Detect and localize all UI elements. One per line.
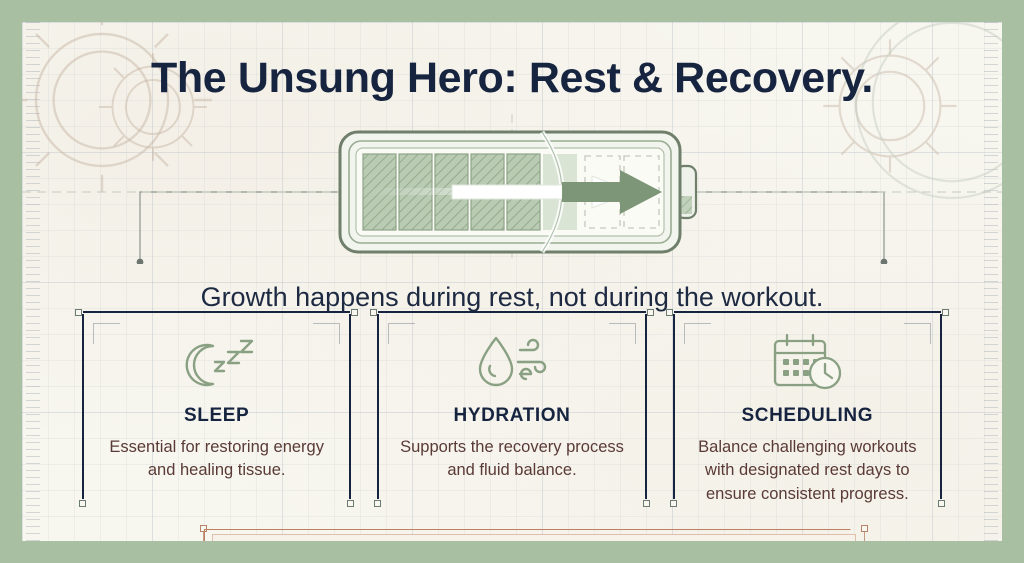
column-body: Balance challenging workouts with design… bbox=[666, 436, 949, 506]
column-bracket-top-right bbox=[609, 323, 636, 344]
danger-label: THE DANGER: bbox=[250, 540, 371, 541]
column-side-rule-right bbox=[940, 314, 942, 499]
feature-column-sleep[interactable]: SLEEP Essential for restoring energy and… bbox=[69, 311, 364, 507]
danger-tick-left bbox=[203, 532, 204, 541]
column-side-rule-left bbox=[82, 314, 84, 499]
column-bracket-top-left bbox=[684, 323, 711, 344]
column-node-top-right bbox=[942, 309, 949, 316]
connector-line-right bbox=[684, 192, 884, 262]
column-node-bottom-right bbox=[347, 500, 354, 507]
column-title: HYDRATION bbox=[370, 405, 653, 427]
danger-banner: THE DANGER: Overtraining leads to fatigu… bbox=[192, 523, 876, 541]
column-node-bottom-left bbox=[374, 500, 381, 507]
column-node-top-left bbox=[75, 309, 82, 316]
column-node-bottom-left bbox=[79, 500, 86, 507]
column-side-rule-right bbox=[349, 314, 351, 499]
connector-line-left bbox=[140, 192, 340, 262]
danger-node-right bbox=[861, 525, 868, 532]
column-title: SCHEDULING bbox=[666, 405, 949, 427]
connector-node-left bbox=[137, 259, 144, 264]
danger-text: Overtraining leads to fatigue, injury, a… bbox=[378, 540, 818, 541]
feature-columns: SLEEP Essential for restoring energy and… bbox=[69, 311, 955, 507]
column-title: SLEEP bbox=[75, 405, 358, 427]
danger-tick-right bbox=[864, 532, 865, 541]
column-top-rule bbox=[83, 311, 350, 313]
column-bracket-top-right bbox=[904, 323, 931, 344]
connector-node-right bbox=[881, 259, 888, 264]
column-node-top-right bbox=[647, 309, 654, 316]
column-bracket-top-left bbox=[93, 323, 120, 344]
column-node-bottom-right bbox=[643, 500, 650, 507]
page-title: The Unsung Hero: Rest & Recovery. bbox=[22, 54, 1002, 103]
column-body: Essential for restoring energy and heali… bbox=[75, 436, 358, 483]
column-bracket-top-left bbox=[388, 323, 415, 344]
column-node-top-right bbox=[351, 309, 358, 316]
charging-battery-diagram bbox=[22, 114, 1002, 264]
column-side-rule-left bbox=[377, 314, 379, 499]
column-bracket-top-right bbox=[313, 323, 340, 344]
infographic-poster: The Unsung Hero: Rest & Recovery. bbox=[0, 0, 1024, 563]
column-side-rule-right bbox=[645, 314, 647, 499]
feature-column-scheduling[interactable]: SCHEDULING Balance challenging workouts … bbox=[660, 311, 955, 507]
column-top-rule bbox=[378, 311, 645, 313]
column-side-rule-left bbox=[673, 314, 675, 499]
danger-content: THE DANGER: Overtraining leads to fatigu… bbox=[212, 534, 856, 541]
column-node-bottom-left bbox=[670, 500, 677, 507]
feature-column-hydration[interactable]: HYDRATION Supports the recovery process … bbox=[364, 311, 659, 507]
column-body: Supports the recovery process and fluid … bbox=[370, 436, 653, 483]
column-node-bottom-right bbox=[938, 500, 945, 507]
column-node-top-left bbox=[666, 309, 673, 316]
hero-graphic bbox=[22, 114, 1002, 264]
subtitle: Growth happens during rest, not during t… bbox=[22, 282, 1002, 313]
column-node-top-left bbox=[370, 309, 377, 316]
column-top-rule bbox=[674, 311, 941, 313]
poster-panel: The Unsung Hero: Rest & Recovery. bbox=[22, 22, 1002, 541]
